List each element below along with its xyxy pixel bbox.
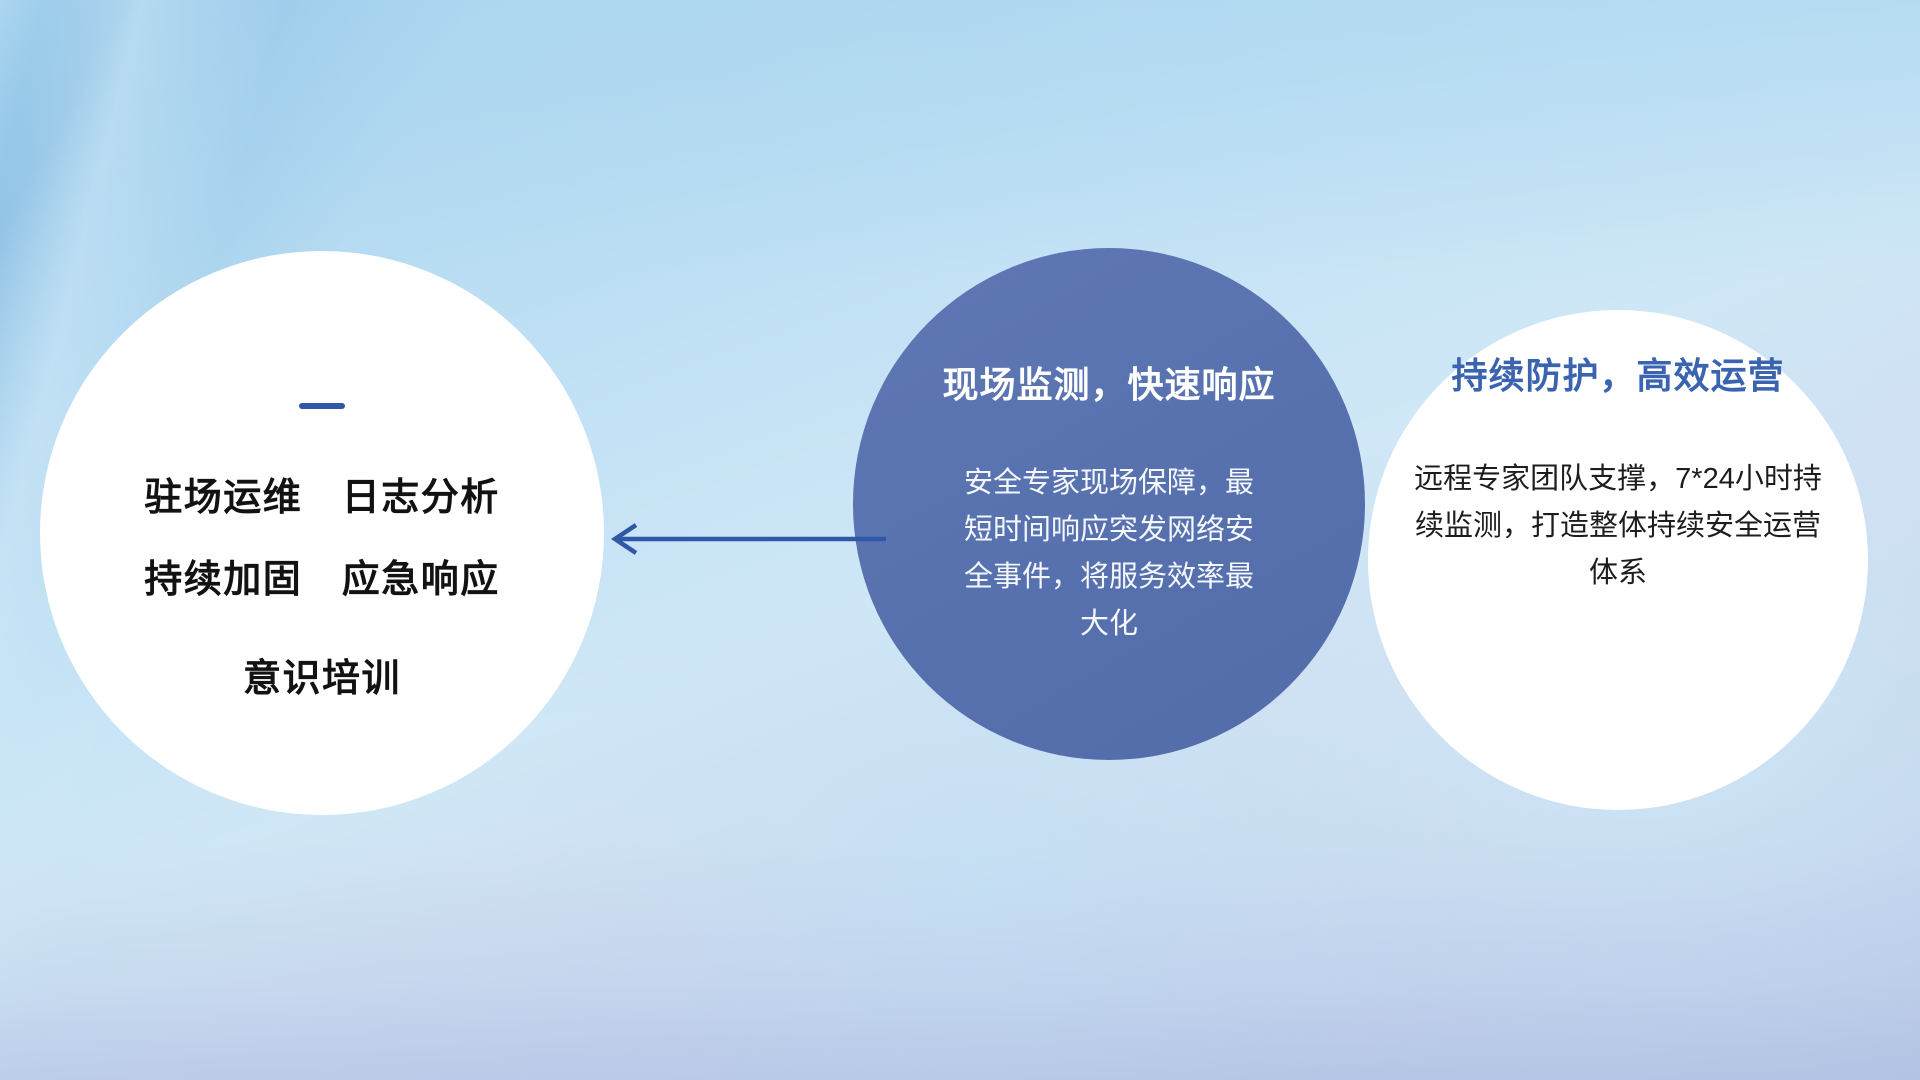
continuous-protection-circle[interactable]: [1368, 310, 1868, 810]
onsite-monitoring-circle[interactable]: [853, 248, 1365, 760]
leftward-flow-arrow: [600, 516, 890, 562]
slide-canvas: 驻场运维 日志分析 持续加固 应急响应 意识培训 现场监测，快速响应 安全专家现…: [0, 0, 1920, 1080]
service-capabilities-circle[interactable]: [40, 251, 604, 815]
